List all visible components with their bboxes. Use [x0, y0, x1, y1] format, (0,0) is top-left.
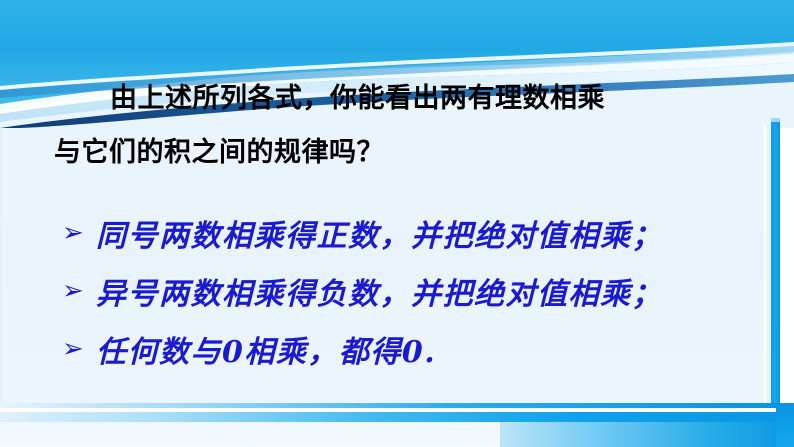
bottom-right-corner: [776, 403, 794, 447]
question-line-1: 由上述所列各式，你能看出两有理数相乘: [54, 72, 744, 126]
bottom-blue-block: [500, 422, 794, 447]
right-accent-bar-cap: [771, 118, 780, 122]
content-frame: [7, 126, 766, 405]
slide-canvas: 由上述所列各式，你能看出两有理数相乘 与它们的积之间的规律吗？ ➢ 同号两数相乘…: [0, 0, 794, 447]
bottom-pale-block: [0, 422, 500, 447]
bottom-accent-band: [0, 412, 794, 422]
right-accent-bar: [771, 118, 780, 418]
